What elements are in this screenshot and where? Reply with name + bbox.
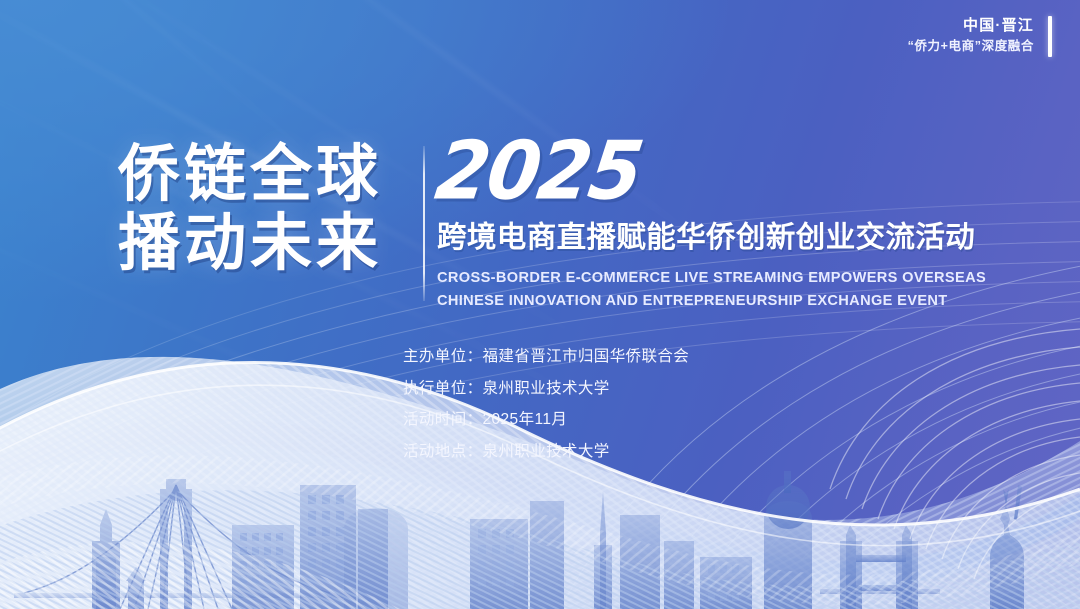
year-2025: 2025 <box>432 134 646 208</box>
info-row-time: 活动时间：2025年11月 <box>403 412 689 428</box>
corner-tag-slogan: “侨力+电商”深度融合 <box>908 37 1034 56</box>
subtitle-english-line-1: CROSS-BORDER E-COMMERCE LIVE STREAMING E… <box>437 267 997 290</box>
main-headline: 侨链全球 播动未来 <box>118 140 382 279</box>
subtitle-chinese: 跨境电商直播赋能华侨创新创业交流活动 <box>437 214 997 256</box>
info-row-executor: 执行单位：泉州职业技术大学 <box>403 381 689 397</box>
corner-tag: 中国·晋江 “侨力+电商”深度融合 <box>908 14 1052 57</box>
subtitle-english-line-2: CHINESE INNOVATION AND ENTREPRENEURSHIP … <box>437 290 997 313</box>
subtitle-english: CROSS-BORDER E-COMMERCE LIVE STREAMING E… <box>437 267 997 312</box>
event-info-list: 主办单位：福建省晋江市归国华侨联合会 执行单位：泉州职业技术大学 活动时间：20… <box>403 349 689 459</box>
corner-tag-text: 中国·晋江 “侨力+电商”深度融合 <box>908 14 1034 57</box>
info-row-location: 活动地点：泉州职业技术大学 <box>403 444 689 460</box>
corner-tag-divider-bar <box>1048 16 1052 57</box>
headline-line-1: 侨链全球 <box>118 140 382 209</box>
poster-canvas: 中国·晋江 “侨力+电商”深度融合 侨链全球 播动未来 2025 跨境电商直播赋… <box>0 0 1080 609</box>
headline-line-2: 播动未来 <box>118 209 382 278</box>
corner-tag-location: 中国·晋江 <box>908 14 1034 37</box>
headline-vertical-divider <box>423 146 425 301</box>
title-right-column: 2025 跨境电商直播赋能华侨创新创业交流活动 CROSS-BORDER E-C… <box>437 136 997 312</box>
info-row-organizer: 主办单位：福建省晋江市归国华侨联合会 <box>403 349 689 365</box>
